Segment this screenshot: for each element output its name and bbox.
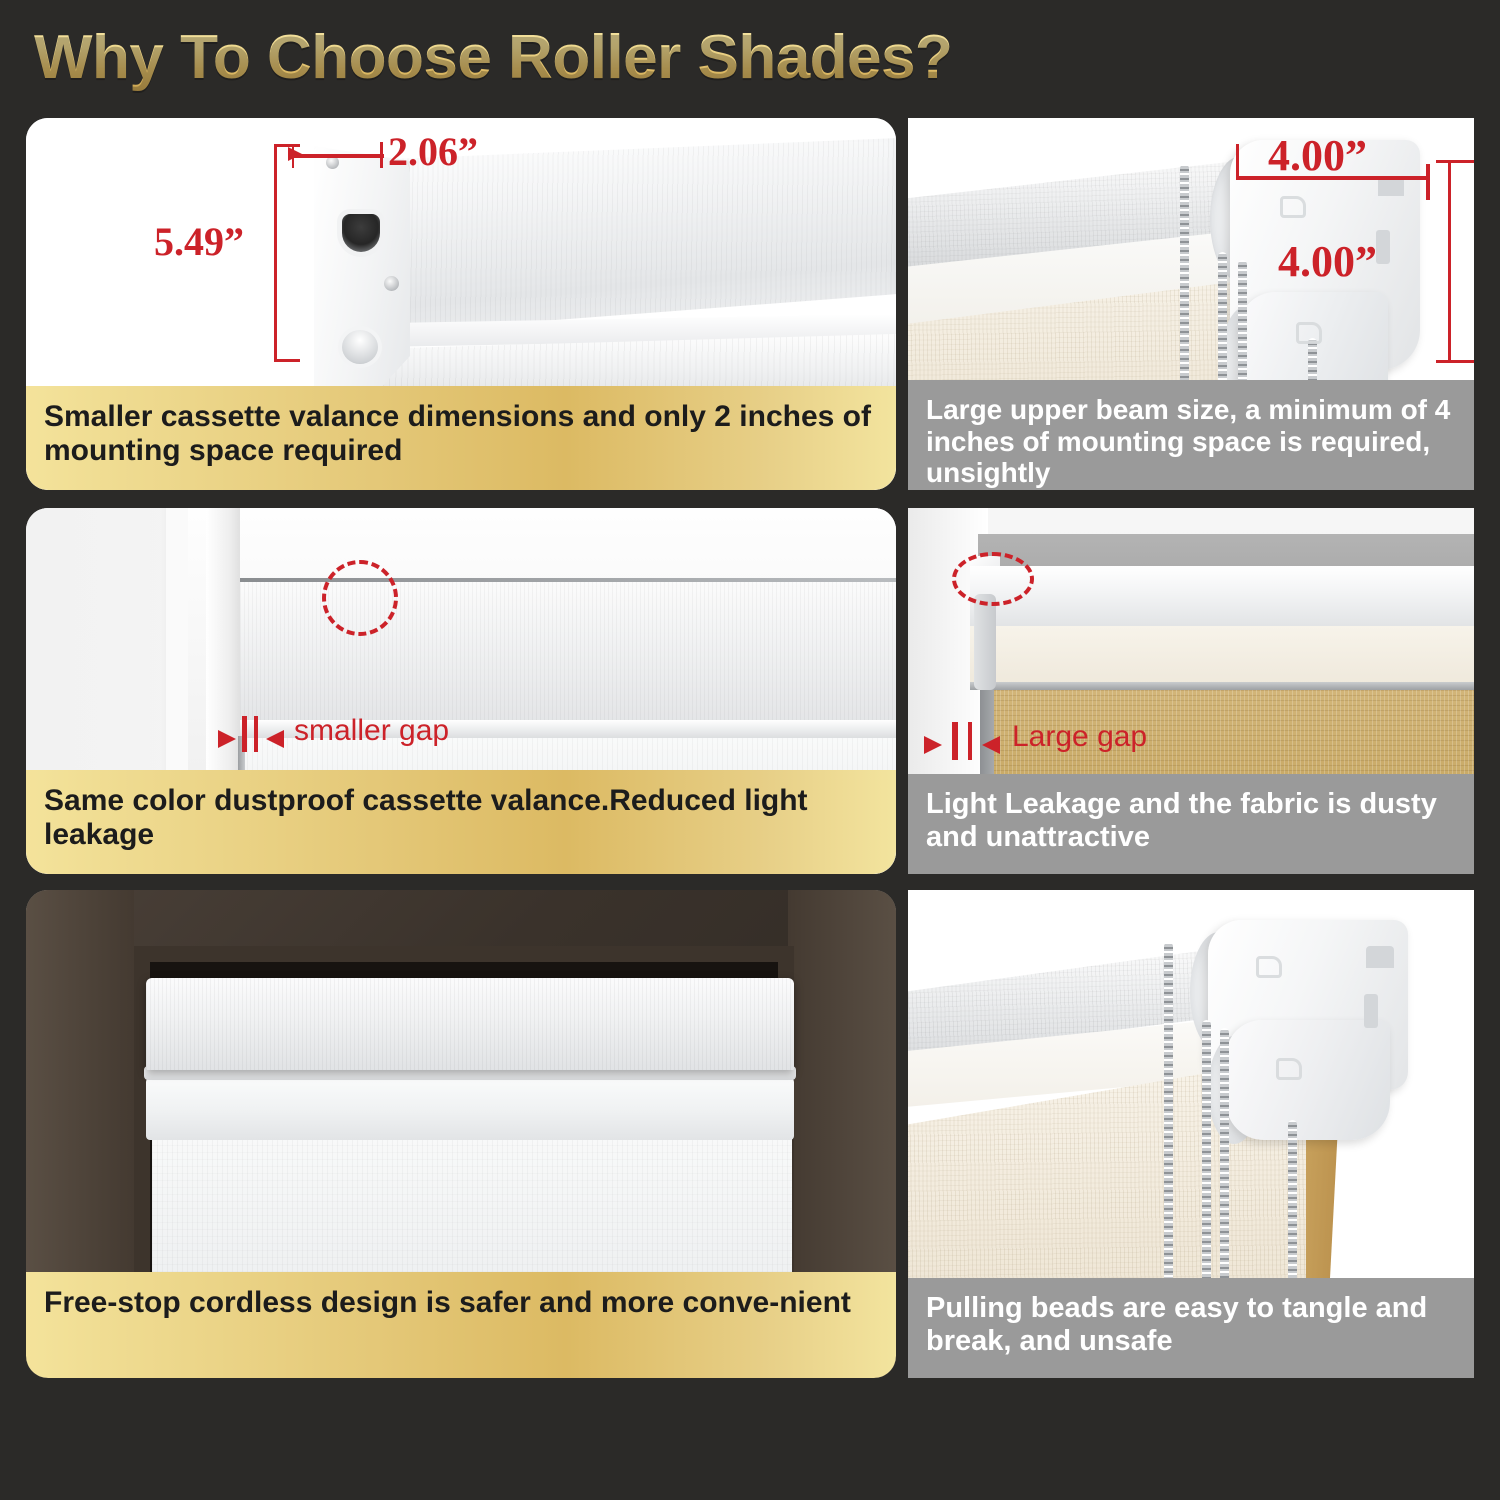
- caption-bottom-left: Free-stop cordless design is safer and m…: [26, 1272, 896, 1378]
- panel-bottom-left: Free-stop cordless design is safer and m…: [26, 890, 896, 1378]
- panel-middle-right: Large gap Light Leakage and the fabric i…: [908, 508, 1474, 874]
- caption-bottom-right: Pulling beads are easy to tangle and bre…: [908, 1278, 1474, 1378]
- valance-knob-icon: [342, 330, 378, 364]
- highlight-ring-icon: [322, 560, 398, 636]
- bracket-emblem-icon: [1276, 1058, 1302, 1080]
- valance-slot-icon: [342, 214, 380, 252]
- gap-label-smaller: smaller gap: [294, 714, 449, 748]
- page-title: Why To Choose Roller Shades?: [34, 22, 952, 93]
- highlight-ring-icon: [952, 552, 1034, 606]
- panel-top-right: 4.00” 4.00” Large upper beam size, a min…: [908, 118, 1474, 490]
- infographic-root: Why To Choose Roller Shades? 2.06” 5.49”…: [0, 0, 1500, 1500]
- caption-top-left: Smaller cassette valance dimensions and …: [26, 386, 896, 490]
- caption-top-right: Large upper beam size, a minimum of 4 in…: [908, 380, 1474, 490]
- gap-label-large: Large gap: [1012, 720, 1147, 754]
- dimension-label-4-00-height: 4.00”: [1278, 236, 1377, 287]
- dimension-label-4-00-width: 4.00”: [1268, 130, 1367, 181]
- caption-middle-right: Light Leakage and the fabric is dusty an…: [908, 774, 1474, 874]
- dimension-label-5-49: 5.49”: [154, 218, 244, 265]
- bracket-emblem-icon: [1280, 196, 1306, 218]
- bracket-emblem-icon: [1296, 322, 1322, 344]
- panel-middle-left: smaller gap Same color dustproof cassett…: [26, 508, 896, 874]
- panel-top-left: 2.06” 5.49” Smaller cassette valance dim…: [26, 118, 896, 490]
- dimension-label-2-06: 2.06”: [388, 128, 478, 175]
- caption-middle-left: Same color dustproof cassette valance.Re…: [26, 770, 896, 874]
- bracket-emblem-icon: [1256, 956, 1282, 978]
- panel-bottom-right: Pulling beads are easy to tangle and bre…: [908, 890, 1474, 1378]
